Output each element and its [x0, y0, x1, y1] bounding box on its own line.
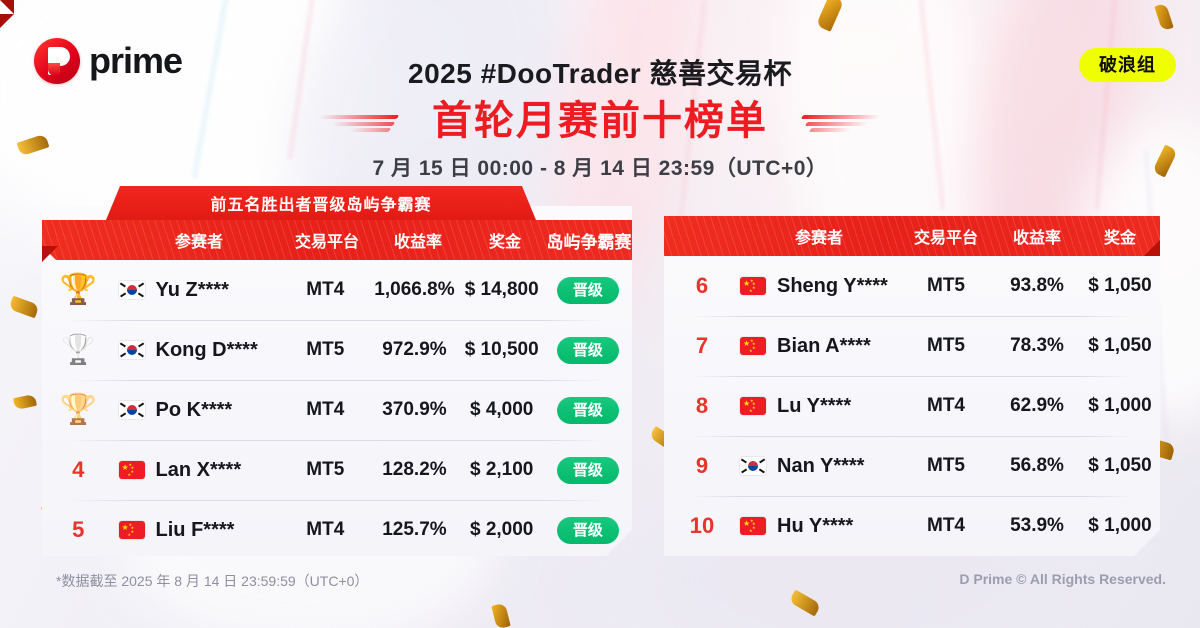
decor-lines-right-icon [794, 112, 880, 130]
table-row[interactable]: 7 ★★★★★ Bian A**** MT5 78.3% $ 1,050 [664, 316, 1160, 376]
prize-cell: $ 10,500 [460, 339, 544, 361]
promotion-ribbon: 前五名胜出者晋级岛屿争霸赛 [106, 186, 536, 220]
participant-cell: ★★★★★ Bian A**** [740, 335, 898, 358]
prize-cell: $ 2,000 [460, 519, 544, 541]
prize-cell: $ 4,000 [460, 399, 544, 421]
platform-cell: MT5 [281, 339, 369, 361]
rank-cell: 10 [664, 513, 740, 539]
rank-cell: 6 [664, 273, 740, 299]
participant-name: Yu Z**** [156, 279, 229, 302]
roi-cell: 78.3% [994, 335, 1080, 357]
rank-cell: 8 [664, 393, 740, 419]
prize-cell: $ 1,000 [1080, 395, 1160, 417]
th-prize: 奖金 [464, 228, 546, 252]
roi-cell: 56.8% [994, 455, 1080, 477]
flag-cn-icon: ★★★★★ [740, 277, 766, 295]
flag-kr-icon [119, 281, 145, 299]
flag-kr-icon [119, 401, 145, 419]
date-range: 7 月 15 日 00:00 - 8 月 14 日 23:59（UTC+0） [0, 152, 1200, 182]
rank-cell: 9 [664, 453, 740, 479]
platform-cell: MT4 [281, 399, 369, 421]
table-row[interactable]: 9 Nan Y**** MT5 56.8% $ 1,050 [664, 436, 1160, 496]
flag-kr-icon [740, 457, 766, 475]
table-row[interactable]: 6 ★★★★★ Sheng Y**** MT5 93.8% $ 1,050 [664, 256, 1160, 316]
table-row[interactable]: 🏆 Kong D**** MT5 972.9% $ 10,500 晋级 [42, 320, 632, 380]
participant-cell: ★★★★★ Lan X**** [115, 459, 282, 482]
copyright: D Prime © All Rights Reserved. [959, 571, 1166, 587]
th-prize: 奖金 [1080, 224, 1160, 248]
participant-cell: Yu Z**** [115, 279, 282, 302]
platform-cell: MT5 [898, 335, 994, 357]
prize-cell: $ 2,100 [460, 459, 544, 481]
participant-name: Kong D**** [156, 339, 258, 362]
participant-cell: Nan Y**** [740, 455, 898, 478]
status-badge: 晋级 [557, 457, 619, 484]
platform-cell: MT4 [898, 515, 994, 537]
right-table-header: 参赛者 交易平台 收益率 奖金 [664, 216, 1160, 256]
rank-cell: 4 [42, 457, 115, 483]
th-platform: 交易平台 [898, 224, 994, 248]
participant-name: Lu Y**** [777, 395, 851, 418]
gold-trophy-icon: 🏆 [60, 273, 97, 306]
participant-name: Sheng Y**** [777, 275, 888, 298]
th-participant: 参赛者 [740, 224, 898, 248]
silver-trophy-icon: 🏆 [60, 333, 97, 366]
event-title: 2025 #DooTrader 慈善交易杯 [0, 52, 1200, 92]
table-row[interactable]: 🏆 Yu Z**** MT4 1,066.8% $ 14,800 晋级 [42, 260, 632, 320]
roi-cell: 53.9% [994, 515, 1080, 537]
platform-cell: MT4 [898, 395, 994, 417]
roi-cell: 93.8% [994, 275, 1080, 297]
rank-cell: 5 [42, 517, 115, 543]
rank-cell: 7 [664, 333, 740, 359]
left-table-header: 参赛者 交易平台 收益率 奖金 岛屿争霸赛 [42, 220, 632, 260]
prize-cell: $ 1,050 [1080, 455, 1160, 477]
right-table-body: 6 ★★★★★ Sheng Y**** MT5 93.8% $ 1,050 7 … [664, 256, 1160, 556]
page-title: 首轮月赛前十榜单 [432, 98, 768, 144]
participant-name: Hu Y**** [777, 515, 853, 538]
status-badge: 晋级 [557, 517, 619, 544]
th-roi: 收益率 [994, 224, 1080, 248]
participant-name: Bian A**** [777, 335, 871, 358]
status-badge: 晋级 [557, 277, 619, 304]
flag-cn-icon: ★★★★★ [119, 521, 145, 539]
prize-cell: $ 14,800 [460, 279, 544, 301]
roi-cell: 370.9% [369, 399, 459, 421]
status-badge: 晋级 [557, 397, 619, 424]
title-block: 2025 #DooTrader 慈善交易杯 首轮月赛前十榜单 7 月 15 日 … [0, 52, 1200, 182]
participant-cell: ★★★★★ Hu Y**** [740, 515, 898, 538]
th-island-cup: 岛屿争霸赛 [546, 228, 632, 253]
participant-name: Nan Y**** [777, 455, 864, 478]
roi-cell: 1,066.8% [369, 279, 459, 301]
table-row[interactable]: 4 ★★★★★ Lan X**** MT5 128.2% $ 2,100 晋级 [42, 440, 632, 500]
roi-cell: 972.9% [369, 339, 459, 361]
prize-cell: $ 1,050 [1080, 275, 1160, 297]
flag-cn-icon: ★★★★★ [740, 397, 766, 415]
th-platform: 交易平台 [282, 228, 372, 252]
th-participant: 参赛者 [116, 228, 282, 252]
participant-cell: ★★★★★ Sheng Y**** [740, 275, 898, 298]
roi-cell: 128.2% [369, 459, 459, 481]
participant-cell: ★★★★★ Liu F**** [115, 519, 282, 542]
th-roi: 收益率 [372, 228, 464, 252]
status-badge: 晋级 [557, 337, 619, 364]
table-row[interactable]: 10 ★★★★★ Hu Y**** MT4 53.9% $ 1,000 [664, 496, 1160, 556]
roi-cell: 62.9% [994, 395, 1080, 417]
decor-lines-left-icon [320, 112, 406, 130]
table-row[interactable]: 8 ★★★★★ Lu Y**** MT4 62.9% $ 1,000 [664, 376, 1160, 436]
flag-cn-icon: ★★★★★ [740, 517, 766, 535]
participant-cell: Po K**** [115, 399, 282, 422]
participant-cell: Kong D**** [115, 339, 282, 362]
table-row[interactable]: 5 ★★★★★ Liu F**** MT4 125.7% $ 2,000 晋级 [42, 500, 632, 560]
platform-cell: MT4 [281, 279, 369, 301]
prize-cell: $ 1,050 [1080, 335, 1160, 357]
participant-cell: ★★★★★ Lu Y**** [740, 395, 898, 418]
flag-cn-icon: ★★★★★ [740, 337, 766, 355]
participant-name: Lan X**** [156, 459, 242, 482]
data-cutoff-note: *数据截至 2025 年 8 月 14 日 23:59:59（UTC+0） [56, 571, 368, 591]
bronze-trophy-icon: 🏆 [60, 393, 97, 426]
platform-cell: MT4 [281, 519, 369, 541]
platform-cell: MT5 [898, 275, 994, 297]
participant-name: Liu F**** [156, 519, 235, 542]
platform-cell: MT5 [898, 455, 994, 477]
platform-cell: MT5 [281, 459, 369, 481]
flag-cn-icon: ★★★★★ [119, 461, 145, 479]
poster-canvas: prime 破浪组 2025 #DooTrader 慈善交易杯 首轮月赛前十榜单… [0, 0, 1200, 628]
flag-kr-icon [119, 341, 145, 359]
table-row[interactable]: 🏆 Po K**** MT4 370.9% $ 4,000 晋级 [42, 380, 632, 440]
roi-cell: 125.7% [369, 519, 459, 541]
participant-name: Po K**** [156, 399, 233, 422]
left-table-body: 🏆 Yu Z**** MT4 1,066.8% $ 14,800 晋级 🏆 Ko… [42, 260, 632, 560]
prize-cell: $ 1,000 [1080, 515, 1160, 537]
